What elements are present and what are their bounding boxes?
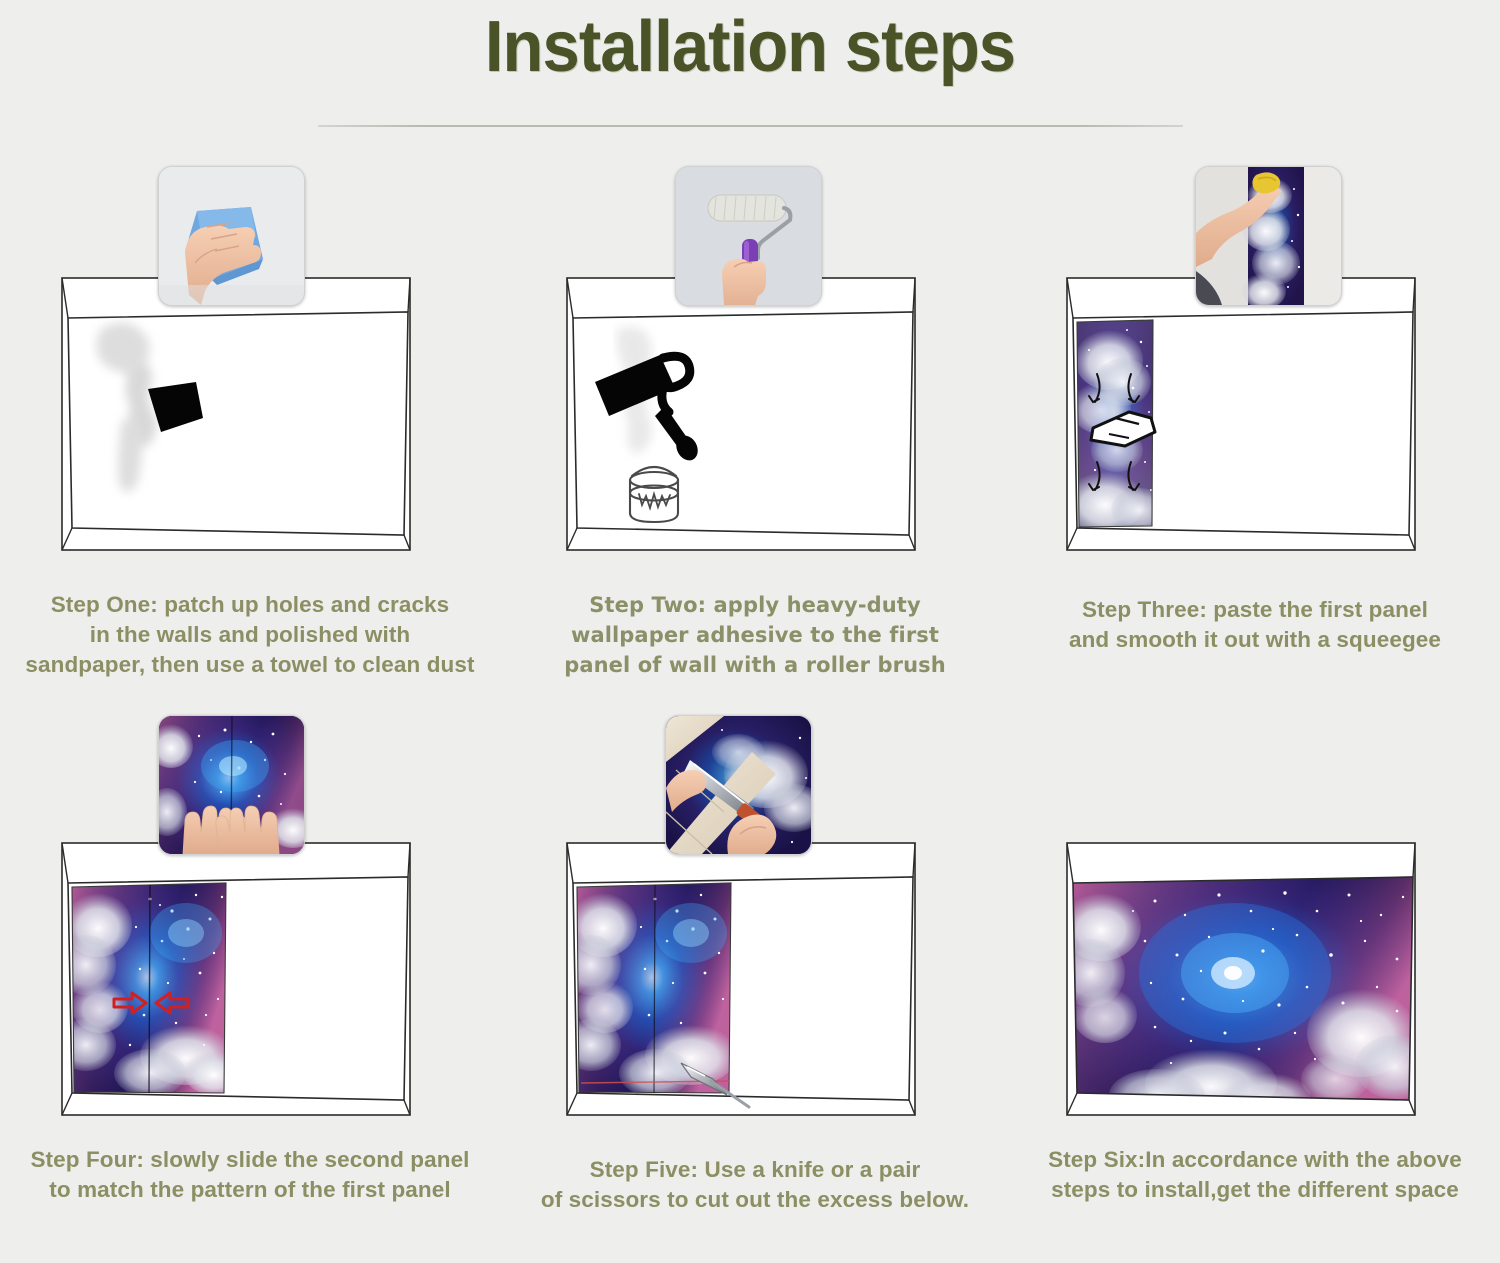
step-six-cell: Step Six:In accordance with the above st… xyxy=(1005,715,1500,1260)
installation-steps-page: Installation steps xyxy=(0,0,1500,1263)
page-title: Installation steps xyxy=(53,6,1448,88)
steps-row-top: Step One: patch up holes and cracks in t… xyxy=(0,150,1500,695)
step-two-cell: Step Two: apply heavy-duty wallpaper adh… xyxy=(505,150,1005,695)
room-with-completed-galaxy-mural-diagram xyxy=(1005,715,1500,1145)
hands-cutting-wallpaper-with-knife-photo xyxy=(665,715,812,855)
hand-wiping-wall-with-blue-cloth-photo xyxy=(158,166,305,306)
step-four-cell: Step Four: slowly slide the second panel… xyxy=(0,715,500,1260)
step-three-cell: Step Three: paste the first panel and sm… xyxy=(1005,150,1500,695)
step-five-caption: Step Five: Use a knife or a pair of scis… xyxy=(505,1155,1005,1215)
step-one-caption: Step One: patch up holes and cracks in t… xyxy=(0,590,500,680)
hand-holding-paint-roller-photo xyxy=(675,166,822,306)
galaxy-panels-to-trim xyxy=(561,881,737,1097)
step-four-caption: Step Four: slowly slide the second panel… xyxy=(0,1145,500,1205)
step-three-caption: Step Three: paste the first panel and sm… xyxy=(1005,595,1500,655)
title-divider xyxy=(318,125,1183,127)
galaxy-mural-full-wall xyxy=(1057,873,1435,1121)
step-one-cell: Step One: patch up holes and cracks in t… xyxy=(0,150,500,695)
person-smoothing-galaxy-panel-photo xyxy=(1195,166,1342,306)
steps-grid: Step One: patch up holes and cracks in t… xyxy=(0,150,1500,1260)
step-two-caption: Step Two: apply heavy-duty wallpaper adh… xyxy=(505,590,1005,680)
steps-row-bottom: Step Four: slowly slide the second panel… xyxy=(0,715,1500,1260)
step-five-cell: Step Five: Use a knife or a pair of scis… xyxy=(505,715,1005,1260)
two-hands-sliding-galaxy-panels-photo xyxy=(158,715,305,855)
step-six-caption: Step Six:In accordance with the above st… xyxy=(1005,1145,1500,1205)
